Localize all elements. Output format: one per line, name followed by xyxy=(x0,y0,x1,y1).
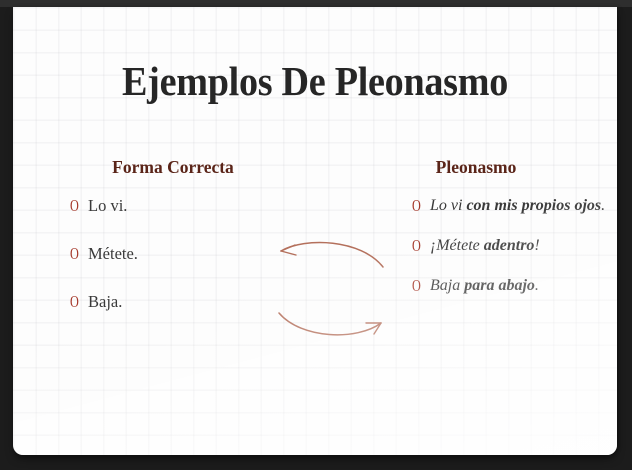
list-item-text-plain-after: . xyxy=(535,277,539,294)
list-item-text-plain: Lo vi xyxy=(430,197,466,214)
cycle-arrows-graphic xyxy=(265,233,397,345)
list-item-label: ¡Métete adentro! xyxy=(430,235,607,257)
list-item-label: Baja para abajo. xyxy=(430,275,607,297)
list-item: O Lo vi. xyxy=(70,195,300,217)
bullet-marker-icon: O xyxy=(412,195,421,217)
list-item-text-plain: ¡Métete xyxy=(430,237,484,254)
slide-canvas: Ejemplos De Pleonasmo Forma Correcta O L… xyxy=(13,7,617,455)
list-item: O ¡Métete adentro! xyxy=(412,235,607,257)
list-pleonasmo: O Lo vi con mis propios ojos. O ¡Métete … xyxy=(412,195,607,296)
presentation-viewer-frame: Ejemplos De Pleonasmo Forma Correcta O L… xyxy=(0,0,632,470)
list-item-text-plain-after: ! xyxy=(534,237,539,254)
bullet-marker-icon: O xyxy=(70,195,79,217)
list-item: O Baja para abajo. xyxy=(412,275,607,297)
bullet-marker-icon: O xyxy=(412,235,421,257)
slide-content: Ejemplos De Pleonasmo Forma Correcta O L… xyxy=(13,7,617,455)
column-header-pleonasmo: Pleonasmo xyxy=(346,157,606,178)
list-item-text-emphasis: con mis propios ojos xyxy=(466,197,601,214)
list-item-text-plain: Baja xyxy=(430,277,464,294)
list-item: O Lo vi con mis propios ojos. xyxy=(412,195,607,217)
list-item-text-emphasis: adentro xyxy=(484,237,535,254)
column-header-forma-correcta: Forma Correcta xyxy=(43,157,303,178)
bullet-marker-icon: O xyxy=(412,275,421,297)
list-item-text-emphasis: para abajo xyxy=(464,277,535,294)
list-item-text-plain-after: . xyxy=(601,197,605,214)
bullet-marker-icon: O xyxy=(70,291,79,313)
bullet-marker-icon: O xyxy=(70,243,79,265)
page-title: Ejemplos De Pleonasmo xyxy=(34,57,596,105)
list-item-label: Lo vi. xyxy=(88,195,300,217)
list-item-label: Lo vi con mis propios ojos. xyxy=(430,195,607,217)
